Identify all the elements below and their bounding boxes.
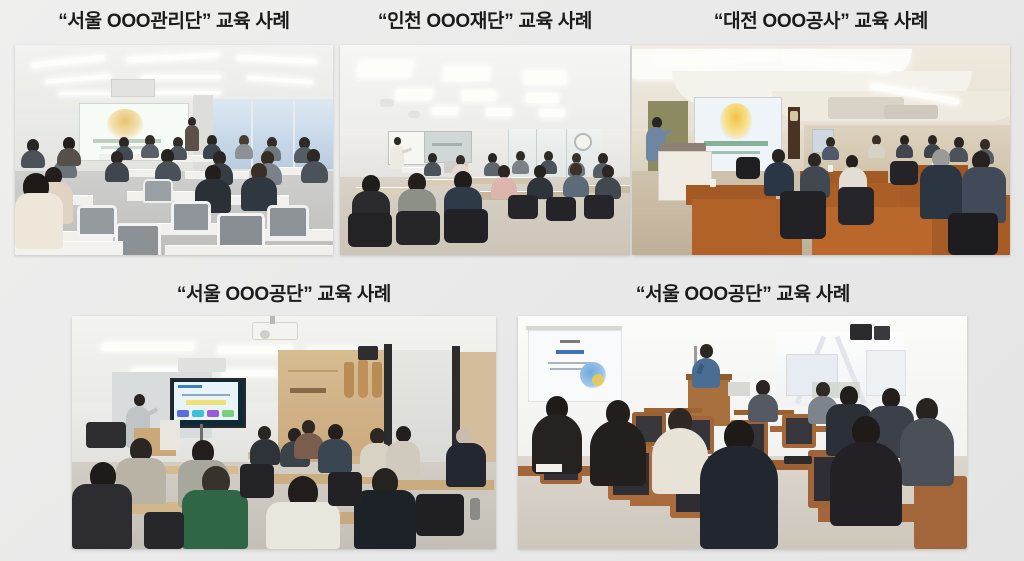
photo-seoul-public-corp-2[interactable] bbox=[518, 316, 967, 549]
caption-seoul-public-corp-2: “서울 OOO공단” 교육 사례 bbox=[518, 285, 968, 304]
caption-daejeon-public-corp: “대전 OOO공사” 교육 사례 bbox=[632, 12, 1010, 31]
photo-daejeon-public-corp[interactable] bbox=[632, 45, 1010, 255]
caption-incheon-foundation: “인천 OOO재단” 교육 사례 bbox=[340, 12, 630, 31]
photo-seoul-public-corp-1[interactable] bbox=[72, 316, 496, 549]
photo-incheon-foundation[interactable] bbox=[340, 45, 630, 255]
caption-seoul-management-corp: “서울 OOO관리단” 교육 사례 bbox=[15, 12, 333, 31]
photo-1-scene bbox=[15, 45, 333, 255]
photo-5-scene bbox=[518, 316, 967, 549]
slide-canvas: “서울 OOO관리단” 교육 사례 “인천 OOO재단” 교육 사례 “대전 O… bbox=[0, 0, 1024, 561]
caption-seoul-public-corp-1: “서울 OOO공단” 교육 사례 bbox=[72, 285, 496, 304]
photo-seoul-management-corp[interactable] bbox=[15, 45, 333, 255]
photo-3-scene bbox=[632, 45, 1010, 255]
photo-4-scene bbox=[72, 316, 496, 549]
photo-2-scene bbox=[340, 45, 630, 255]
